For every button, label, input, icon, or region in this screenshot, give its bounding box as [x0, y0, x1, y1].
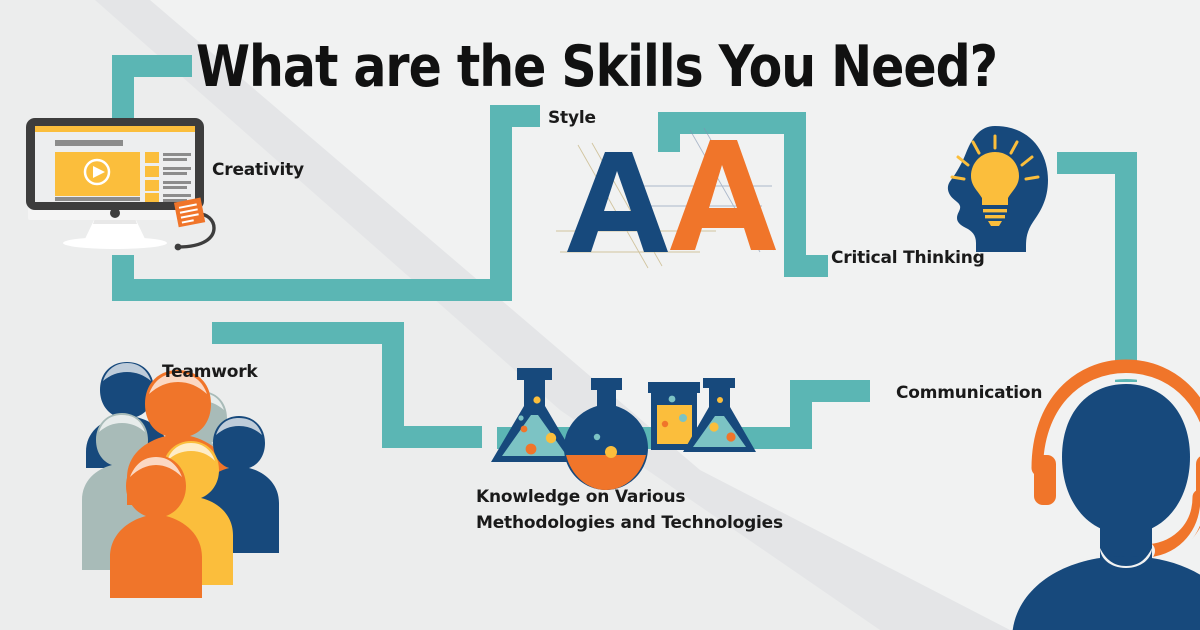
- people-group-icon: [82, 362, 279, 598]
- monitor-video-icon: [26, 118, 214, 250]
- skill-label-creativity: Creativity: [212, 158, 304, 183]
- typography-letters-icon: [556, 128, 776, 268]
- skill-label-style: Style: [548, 106, 596, 131]
- lab-flasks-icon: [491, 368, 756, 490]
- head-lightbulb-icon: [948, 126, 1048, 252]
- skill-label-knowledge-line1: Knowledge on Various: [476, 485, 783, 511]
- flask-round-bottom: [564, 378, 648, 490]
- infographic-canvas: What are the Skills You Need? Creativity…: [0, 0, 1200, 630]
- skill-label-knowledge-line2: Methodologies and Technologies: [476, 511, 783, 537]
- skill-label-knowledge: Knowledge on Various Methodologies and T…: [476, 485, 783, 536]
- page-title: What are the Skills You Need?: [196, 34, 997, 100]
- skill-label-teamwork: Teamwork: [162, 360, 258, 385]
- headset-person-icon: [1012, 368, 1200, 630]
- skill-label-critical-thinking: Critical Thinking: [831, 246, 985, 271]
- skill-label-communication: Communication: [896, 381, 1042, 406]
